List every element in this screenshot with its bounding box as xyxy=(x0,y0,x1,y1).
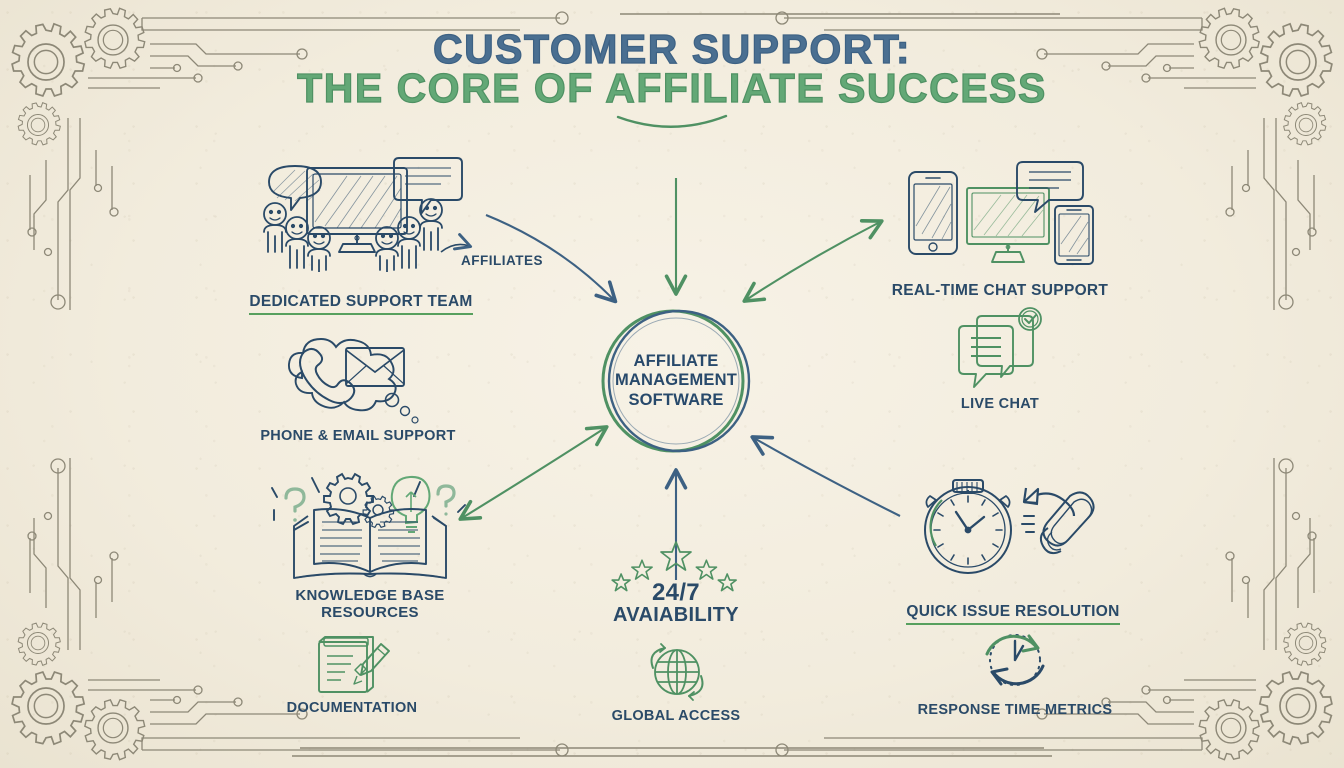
node-label-global-access: GLOBAL ACCESS xyxy=(606,708,746,724)
globe-icon xyxy=(640,638,712,704)
arrow-center-to-chat xyxy=(746,222,880,300)
node-live-chat[interactable]: LIVE CHAT xyxy=(935,306,1065,412)
support-team-icon xyxy=(251,152,471,272)
node-availability[interactable]: 24/7 AVAIABILITY xyxy=(596,540,756,626)
person xyxy=(420,199,442,250)
devices-chat-icon xyxy=(895,160,1105,280)
availability-word: AVAIABILITY xyxy=(596,605,756,626)
node-response-time-metrics[interactable]: RESPONSE TIME METRICS xyxy=(900,624,1130,718)
node-dedicated-support-team[interactable]: DEDICATED SUPPORT TEAM xyxy=(236,152,486,315)
center-node-affiliate-management-software[interactable]: AFFILIATE MANAGEMENT SOFTWARE xyxy=(597,302,755,460)
node-label-documentation: DOCUMENTATION xyxy=(272,700,432,716)
title-line-1: CUSTOMER SUPPORT: xyxy=(0,30,1344,69)
node-label-phone-email-support: PHONE & EMAIL SUPPORT xyxy=(258,428,458,444)
node-label-real-time-chat-support: REAL-TIME CHAT SUPPORT xyxy=(880,282,1120,299)
clock-cycle-icon xyxy=(967,624,1063,698)
title-swoosh-icon xyxy=(612,113,732,135)
node-real-time-chat-support[interactable]: REAL-TIME CHAT SUPPORT xyxy=(880,160,1120,299)
node-global-access[interactable]: GLOBAL ACCESS xyxy=(606,638,746,724)
node-phone-email-support[interactable]: PHONE & EMAIL SUPPORT xyxy=(258,326,458,444)
stopwatch-chain-icon xyxy=(906,468,1121,586)
infographic-content: CUSTOMER SUPPORT: THE CORE OF AFFILIATE … xyxy=(0,0,1344,768)
stars-icon xyxy=(596,540,756,602)
node-knowledge-base-resources[interactable]: KNOWLEDGE BASE RESOURCES xyxy=(250,466,490,622)
notepad-pencil-icon xyxy=(311,634,393,696)
title-line-2: THE CORE OF AFFILIATE SUCCESS xyxy=(0,69,1344,108)
node-label-dedicated-support-team: DEDICATED SUPPORT TEAM xyxy=(236,276,486,315)
node-documentation[interactable]: DOCUMENTATION xyxy=(272,634,432,716)
node-label-live-chat: LIVE CHAT xyxy=(935,396,1065,412)
open-book-idea-icon xyxy=(260,466,480,586)
phone-email-cloud-icon xyxy=(268,326,448,426)
node-label-response-time-metrics: RESPONSE TIME METRICS xyxy=(900,702,1130,718)
node-quick-issue-resolution[interactable]: QUICK ISSUE RESOLUTION xyxy=(898,468,1128,625)
arrow-resolution-to-center xyxy=(754,438,900,516)
center-node-label: AFFILIATE MANAGEMENT SOFTWARE xyxy=(597,302,755,460)
person xyxy=(286,217,308,268)
person xyxy=(264,203,286,252)
chat-bubbles-check-icon xyxy=(954,306,1046,392)
node-label-quick-issue-resolution: QUICK ISSUE RESOLUTION xyxy=(898,586,1128,625)
page-title: CUSTOMER SUPPORT: THE CORE OF AFFILIATE … xyxy=(0,30,1344,135)
node-label-knowledge-base-resources: KNOWLEDGE BASE RESOURCES xyxy=(250,588,490,622)
